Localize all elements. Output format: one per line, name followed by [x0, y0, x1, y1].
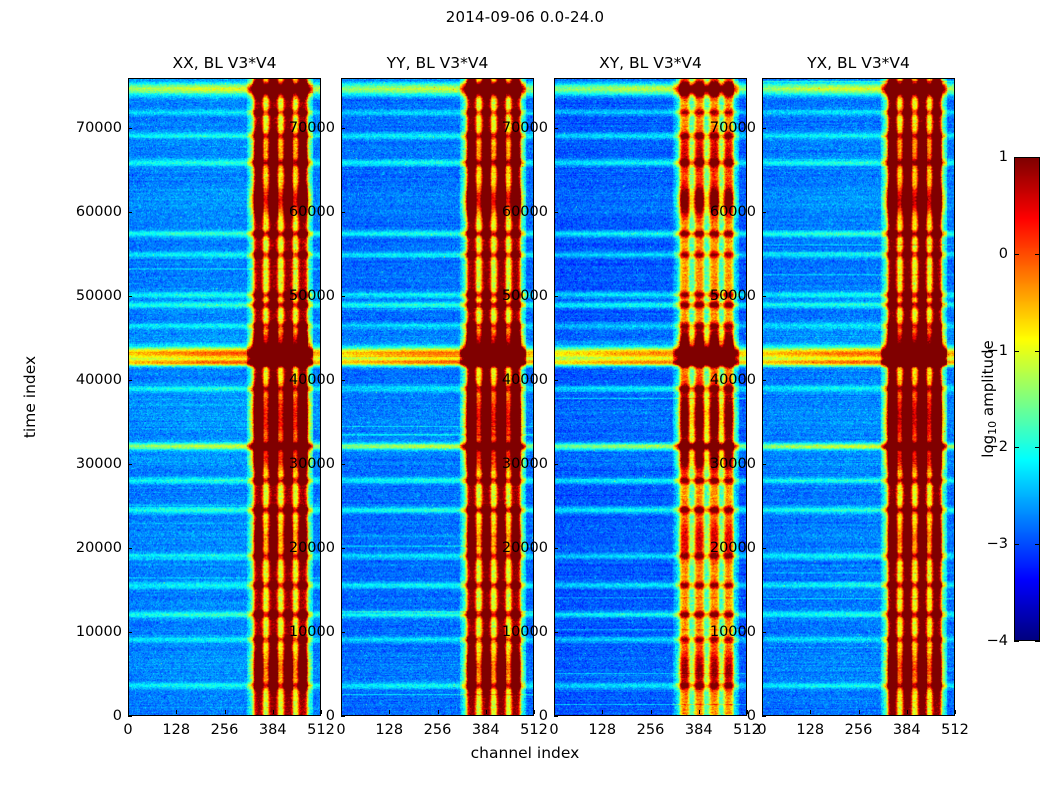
y-axis-tick-mark: [554, 128, 558, 129]
y-axis-tick-mark: [554, 548, 558, 549]
x-axis-tick-mark: [225, 710, 226, 714]
x-axis-tick-mark: [762, 710, 763, 714]
y-axis-tick-label: 50000: [263, 288, 335, 304]
y-axis-tick-mark: [762, 212, 766, 213]
y-axis-tick-label: 10000: [476, 624, 548, 640]
x-axis-tick-label: 128: [796, 722, 824, 738]
x-axis-tick-mark: [810, 710, 811, 714]
colorbar-label-subscript: 10: [986, 421, 999, 435]
y-axis-tick-mark: [341, 212, 345, 213]
y-axis-tick-mark: [128, 464, 132, 465]
y-axis-tick-label: 50000: [684, 288, 756, 304]
y-axis-tick-label: 40000: [476, 372, 548, 388]
y-axis-tick-mark: [341, 380, 345, 381]
x-axis-tick-label: 512: [520, 722, 548, 738]
y-axis-tick-mark: [554, 380, 558, 381]
y-axis-tick-label: 40000: [50, 372, 122, 388]
y-axis-tick-mark: [128, 548, 132, 549]
x-axis-tick-mark: [486, 710, 487, 714]
waterfall-panel-xy[interactable]: [554, 78, 747, 716]
y-axis-tick-mark: [762, 548, 766, 549]
colorbar-tick-label: −3: [974, 536, 1008, 552]
y-axis-tick-mark: [341, 632, 345, 633]
y-axis-tick-label: 10000: [263, 624, 335, 640]
x-axis-tick-label: 256: [845, 722, 873, 738]
y-axis-tick-label: 50000: [50, 288, 122, 304]
colorbar-tick-mark: [1035, 157, 1040, 158]
y-axis-tick-mark: [128, 296, 132, 297]
x-axis-tick-label: 384: [259, 722, 287, 738]
y-axis-tick-label: 70000: [263, 120, 335, 136]
x-axis-tick-mark: [389, 710, 390, 714]
colorbar-tick-mark: [1014, 447, 1019, 448]
panel-title-xx: XX, BL V3*V4: [128, 52, 321, 74]
x-axis-label: channel index: [0, 744, 1050, 762]
y-axis-tick-label: 30000: [50, 456, 122, 472]
figure-canvas: 2014-09-06 0.0-24.0 XX, BL V3*V4 YY, BL …: [0, 0, 1050, 800]
figure-suptitle: 2014-09-06 0.0-24.0: [0, 8, 1050, 26]
y-axis-tick-mark: [554, 464, 558, 465]
x-axis-tick-mark: [438, 710, 439, 714]
x-axis-tick-mark: [176, 710, 177, 714]
y-axis-tick-label: 30000: [263, 456, 335, 472]
colorbar-tick-mark: [1035, 351, 1040, 352]
y-axis-tick-mark: [554, 212, 558, 213]
colorbar-tick-mark: [1014, 351, 1019, 352]
y-axis-tick-mark: [762, 296, 766, 297]
y-axis-tick-label: 60000: [50, 204, 122, 220]
y-axis-tick-label: 70000: [50, 120, 122, 136]
waterfall-panel-yy[interactable]: [341, 78, 534, 716]
y-axis-tick-label: 60000: [684, 204, 756, 220]
x-axis-tick-label: 256: [424, 722, 452, 738]
x-axis-tick-mark: [273, 710, 274, 714]
x-axis-tick-mark: [341, 710, 342, 714]
colorbar-tick-mark: [1014, 544, 1019, 545]
y-axis-tick-label: 60000: [263, 204, 335, 220]
x-axis-tick-label: 128: [375, 722, 403, 738]
x-axis-tick-label: 0: [549, 722, 558, 738]
panel-title-yy: YY, BL V3*V4: [341, 52, 534, 74]
y-axis-tick-label: 20000: [684, 540, 756, 556]
y-axis-tick-mark: [341, 548, 345, 549]
y-axis-tick-label: 20000: [50, 540, 122, 556]
x-axis-tick-mark: [321, 710, 322, 714]
colorbar-tick-mark: [1035, 254, 1040, 255]
x-axis-tick-mark: [747, 710, 748, 714]
y-axis-tick-mark: [762, 128, 766, 129]
y-axis-tick-mark: [762, 716, 766, 717]
y-axis-tick-label: 60000: [476, 204, 548, 220]
y-axis-tick-label: 30000: [476, 456, 548, 472]
colorbar-tick-label: 0: [974, 246, 1008, 262]
waterfall-panel-yx[interactable]: [762, 78, 955, 716]
panel-title-xy: XY, BL V3*V4: [554, 52, 747, 74]
y-axis-tick-mark: [762, 632, 766, 633]
x-axis-tick-label: 128: [162, 722, 190, 738]
y-axis-tick-label: 0: [50, 708, 122, 724]
x-axis-tick-label: 384: [685, 722, 713, 738]
x-axis-tick-label: 128: [588, 722, 616, 738]
y-axis-tick-label: 70000: [476, 120, 548, 136]
y-axis-tick-label: 50000: [476, 288, 548, 304]
y-axis-tick-label: 40000: [684, 372, 756, 388]
colorbar-tick-mark: [1035, 544, 1040, 545]
colorbar-tick-mark: [1014, 641, 1019, 642]
y-axis-tick-mark: [554, 716, 558, 717]
colorbar-tick-mark: [1035, 447, 1040, 448]
y-axis-tick-mark: [128, 128, 132, 129]
x-axis-tick-mark: [602, 710, 603, 714]
x-axis-tick-mark: [859, 710, 860, 714]
panel-title-yx: YX, BL V3*V4: [762, 52, 955, 74]
y-axis-tick-mark: [341, 464, 345, 465]
y-axis-tick-label: 40000: [263, 372, 335, 388]
colorbar-tick-label: −4: [974, 633, 1008, 649]
colorbar-tick-mark: [1014, 254, 1019, 255]
colorbar: [1014, 157, 1040, 641]
x-axis-tick-mark: [651, 710, 652, 714]
y-axis-label: time index: [21, 356, 39, 438]
y-axis-tick-label: 10000: [684, 624, 756, 640]
y-axis-tick-mark: [128, 716, 132, 717]
y-axis-tick-label: 20000: [476, 540, 548, 556]
x-axis-tick-mark: [554, 710, 555, 714]
colorbar-tick-label: −2: [974, 439, 1008, 455]
x-axis-tick-label: 512: [307, 722, 335, 738]
waterfall-panel-xx[interactable]: [128, 78, 321, 716]
y-axis-tick-mark: [762, 380, 766, 381]
x-axis-tick-mark: [128, 710, 129, 714]
x-axis-tick-label: 384: [893, 722, 921, 738]
x-axis-tick-label: 0: [757, 722, 766, 738]
x-axis-tick-label: 256: [637, 722, 665, 738]
x-axis-tick-label: 256: [211, 722, 239, 738]
colorbar-tick-label: −1: [974, 343, 1008, 359]
x-axis-tick-label: 384: [472, 722, 500, 738]
x-axis-tick-mark: [534, 710, 535, 714]
y-axis-tick-mark: [128, 632, 132, 633]
y-axis-tick-label: 70000: [684, 120, 756, 136]
x-axis-tick-mark: [955, 710, 956, 714]
y-axis-tick-label: 20000: [263, 540, 335, 556]
y-axis-tick-label: 30000: [684, 456, 756, 472]
y-axis-tick-mark: [762, 464, 766, 465]
y-axis-tick-mark: [128, 380, 132, 381]
colorbar-tick-mark: [1014, 157, 1019, 158]
y-axis-tick-mark: [554, 632, 558, 633]
y-axis-tick-label: 10000: [50, 624, 122, 640]
colorbar-tick-mark: [1035, 641, 1040, 642]
y-axis-tick-mark: [128, 212, 132, 213]
colorbar-tick-label: 1: [974, 149, 1008, 165]
x-axis-tick-label: 512: [941, 722, 969, 738]
x-axis-tick-mark: [699, 710, 700, 714]
x-axis-tick-label: 0: [123, 722, 132, 738]
y-axis-tick-mark: [341, 128, 345, 129]
x-axis-tick-label: 0: [336, 722, 345, 738]
y-axis-tick-mark: [341, 716, 345, 717]
y-axis-tick-mark: [554, 296, 558, 297]
y-axis-tick-mark: [341, 296, 345, 297]
x-axis-tick-mark: [907, 710, 908, 714]
